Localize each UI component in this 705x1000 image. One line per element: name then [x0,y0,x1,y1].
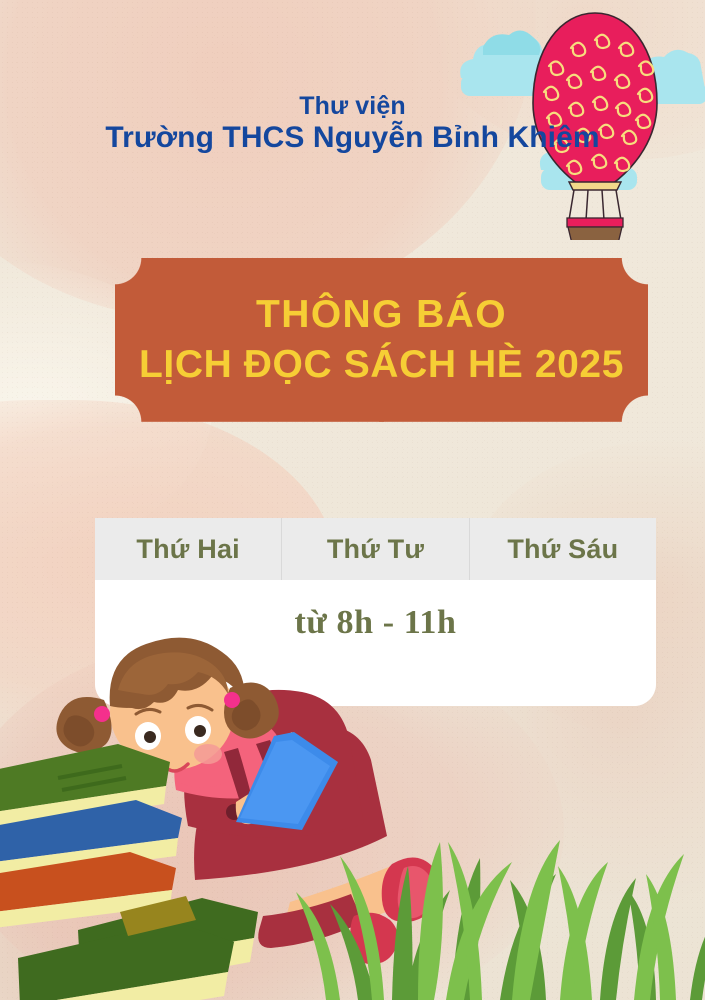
schedule-table: Thứ Hai Thứ Tư Thứ Sáu từ 8h - 11h [95,518,656,706]
banner-line-1: THÔNG BÁO [256,292,507,338]
schedule-hours: từ 8h - 11h [294,604,456,642]
schedule-table-header-row: Thứ Hai Thứ Tư Thứ Sáu [95,518,656,580]
schedule-column-monday: Thứ Hai [95,518,282,580]
announcement-banner: THÔNG BÁO LỊCH ĐỌC SÁCH HÈ 2025 [115,258,648,422]
schedule-table-body: từ 8h - 11h [95,580,656,706]
schedule-column-wednesday: Thứ Tư [282,518,469,580]
banner-line-2: LỊCH ĐỌC SÁCH HÈ 2025 [139,342,624,388]
poster-heading: Thư viện Trường THCS Nguyễn Bỉnh Khiêm [0,92,705,156]
schedule-column-friday: Thứ Sáu [470,518,656,580]
poster-canvas: Thư viện Trường THCS Nguyễn Bỉnh Khiêm T… [0,0,705,1000]
heading-line-2: Trường THCS Nguyễn Bỉnh Khiêm [0,121,705,156]
heading-line-1: Thư viện [0,92,705,121]
